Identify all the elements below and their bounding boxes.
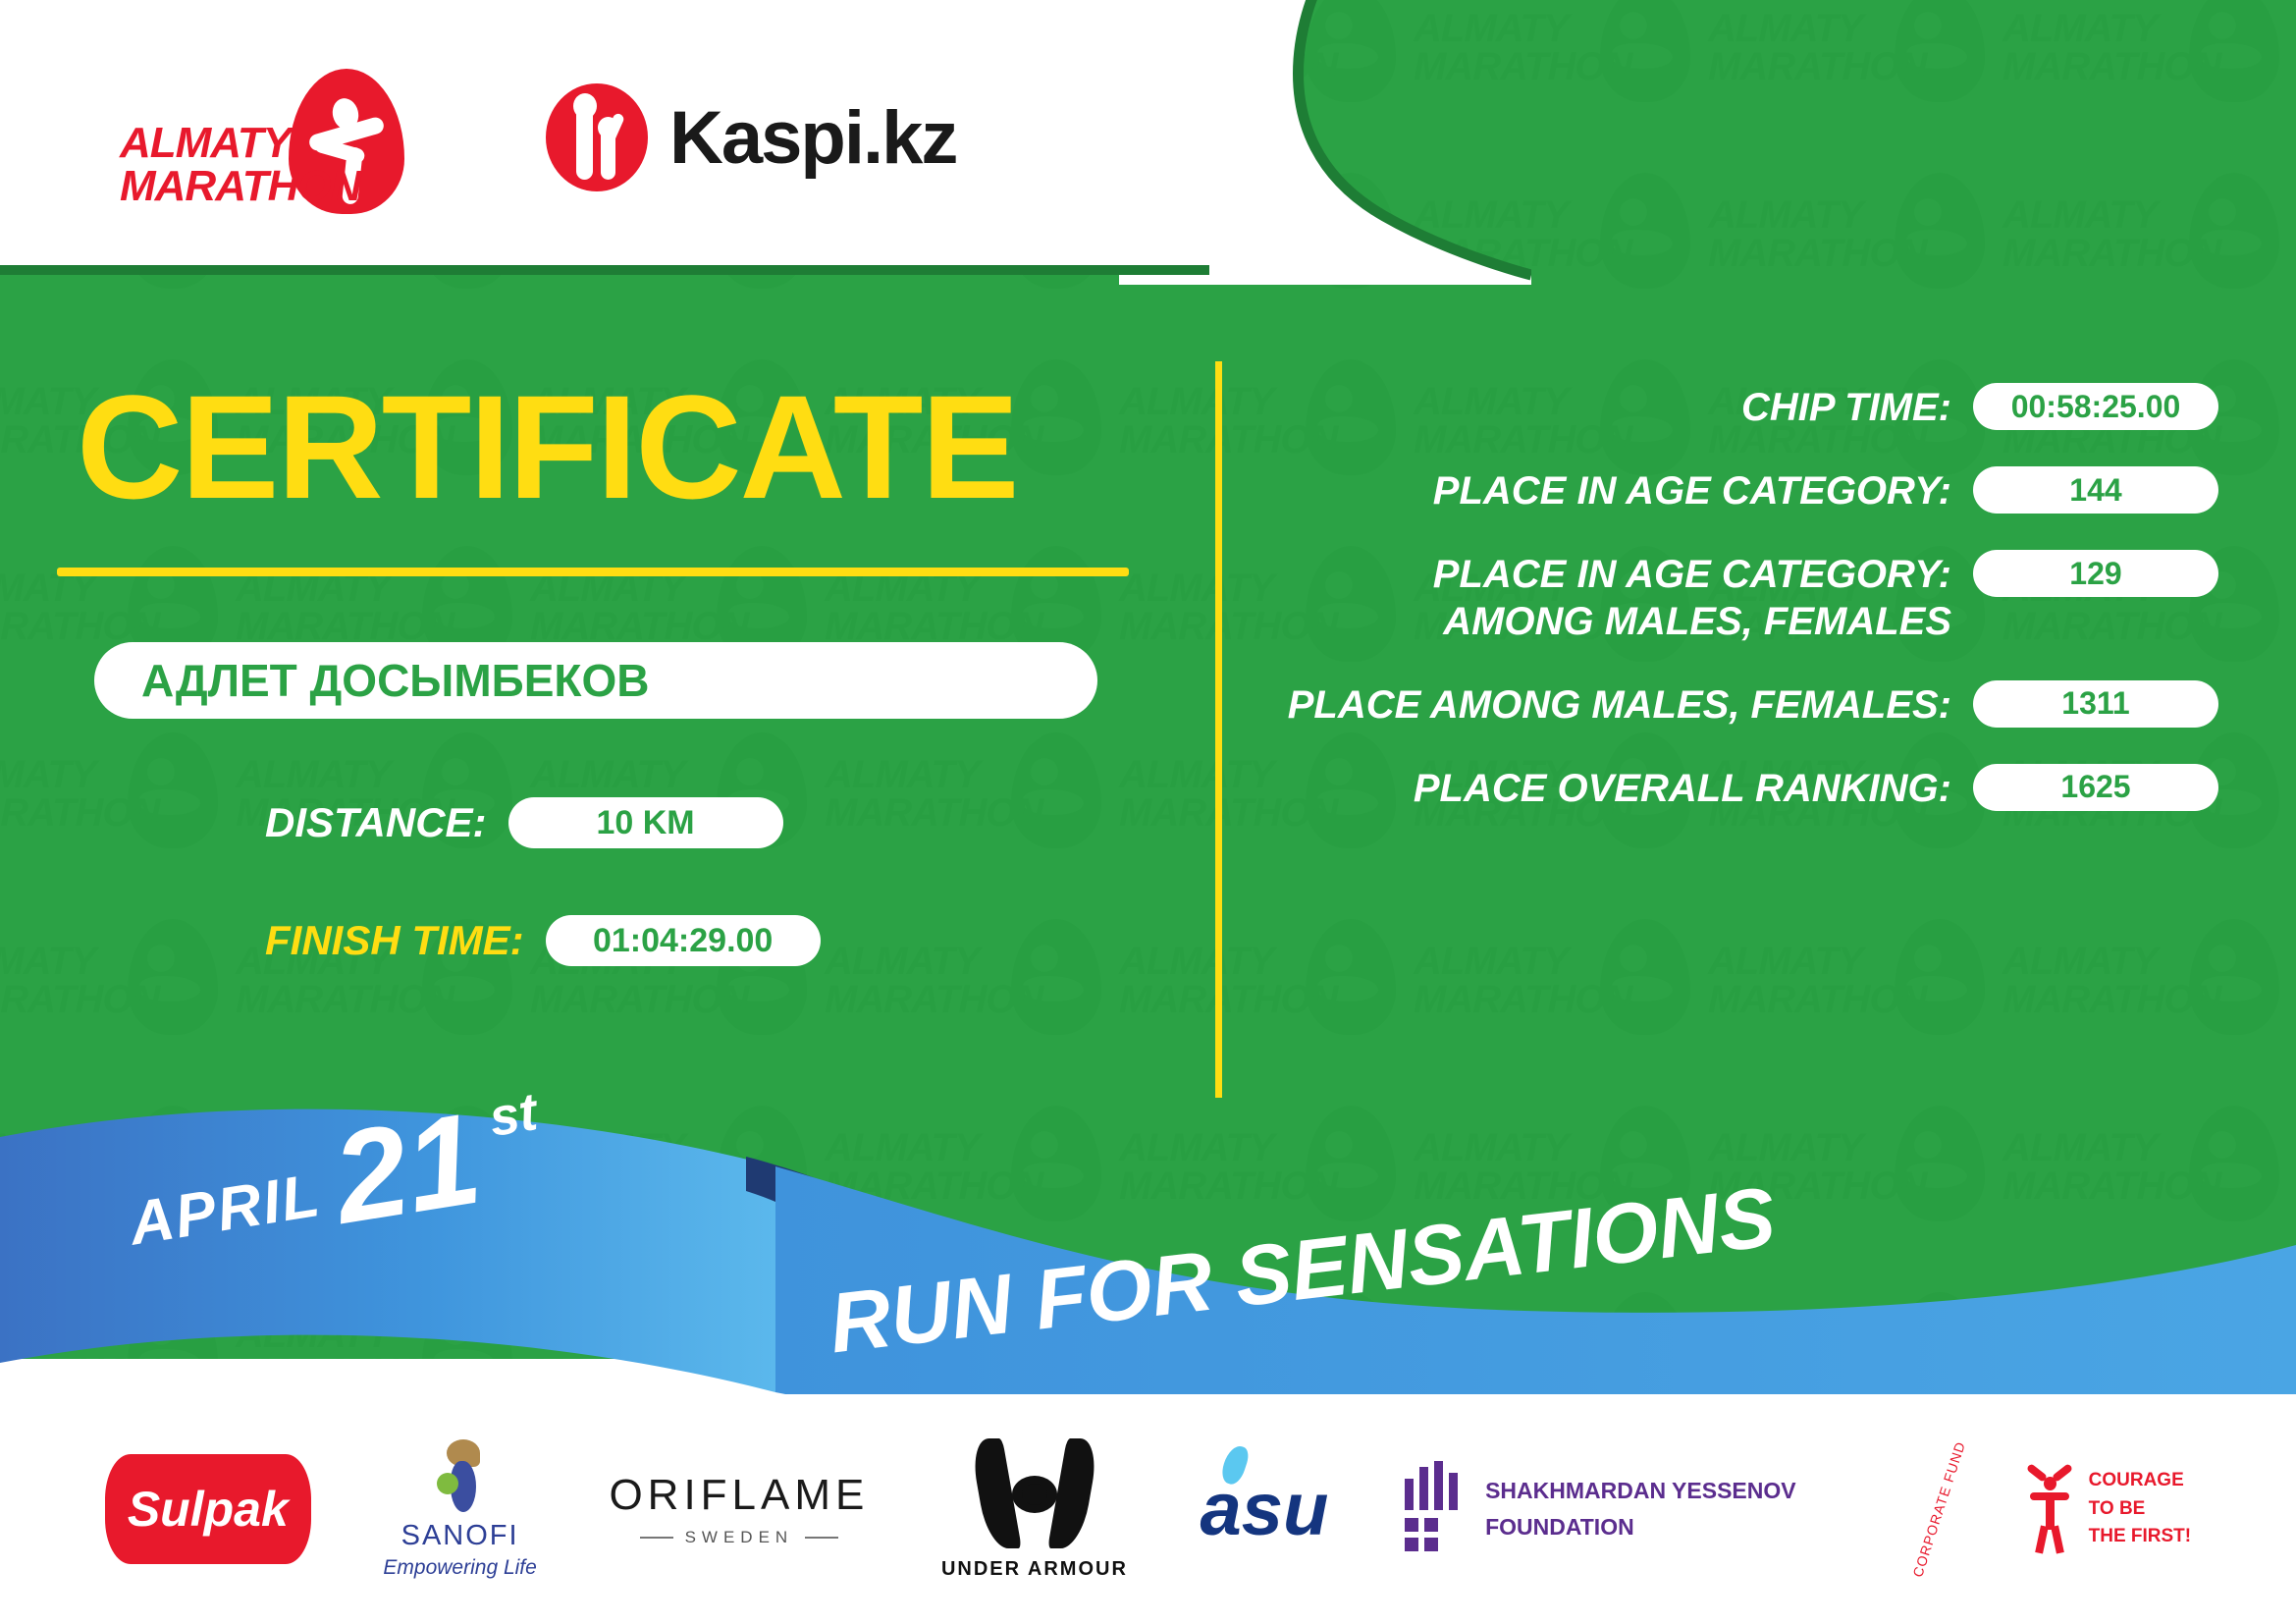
- sponsor-yessenov-foundation: SHAKHMARDAN YESSENOV FOUNDATION: [1401, 1461, 1796, 1557]
- watermark-text: ALMATYMARATHON: [2002, 196, 2209, 273]
- watermark-line2: MARATHON: [825, 794, 1031, 833]
- watermark-tile: ALMATYMARATHON: [1708, 913, 2002, 1100]
- distance-row: DISTANCE: 10 KM: [265, 797, 783, 848]
- almaty-marathon-logo: ALMATY MARATHON: [120, 69, 444, 206]
- under-armour-wordmark: UNDER ARMOUR: [941, 1558, 1128, 1581]
- sponsor-oriflame: ORIFLAME SWEDEN: [609, 1471, 869, 1547]
- watermark-text: ALMATYMARATHON: [1708, 196, 1914, 273]
- watermark-tile: ALMATYMARATHON: [1119, 913, 1414, 1100]
- watermark-line2: MARATHON: [825, 608, 1031, 646]
- watermark-tile: ALMATYMARATHON: [2002, 167, 2296, 353]
- title-underline: [57, 568, 1129, 576]
- participant-name-value: АДЛЕТ ДОСЫМБЕКОВ: [141, 654, 649, 707]
- sponsor-bar: Sulpak SANOFI Empowering Life ORIFLAME S…: [0, 1394, 2296, 1624]
- finish-time-value: 01:04:29.00: [593, 922, 773, 960]
- watermark-line1: ALMATY: [2002, 196, 2209, 235]
- watermark-line2: MARATHON: [2002, 48, 2209, 86]
- watermark-text: ALMATYMARATHON: [1708, 943, 1914, 1019]
- stat-label: PLACE IN AGE CATEGORY:: [1286, 466, 1973, 514]
- watermark-line2: MARATHON: [2002, 981, 2209, 1019]
- watermark-text: ALMATYMARATHON: [530, 569, 736, 646]
- sponsor-asu: asu: [1201, 1467, 1329, 1552]
- watermark-line2: MARATHON: [825, 981, 1031, 1019]
- distance-label: DISTANCE:: [265, 799, 487, 846]
- kaspi-wordmark: Kaspi.kz: [669, 95, 956, 181]
- watermark-tile: ALMATYMARATHON: [0, 913, 236, 1100]
- under-armour-mark-icon: [973, 1438, 1096, 1548]
- corporate-fund-line3: THE FIRST!: [2089, 1523, 2192, 1551]
- yessenov-line2: FOUNDATION: [1485, 1509, 1796, 1545]
- watermark-text: ALMATYMARATHON: [1119, 943, 1325, 1019]
- event-day: 21: [327, 1101, 488, 1238]
- sponsor-sulpak: Sulpak: [105, 1454, 311, 1564]
- watermark-text: ALMATYMARATHON: [825, 943, 1031, 1019]
- header-curve-shape: [1119, 0, 1531, 285]
- stat-value: 129: [2069, 556, 2121, 592]
- certificate-page: ALMATYMARATHONALMATYMARATHONALMATYMARATH…: [0, 0, 2296, 1624]
- stat-row: PLACE AMONG MALES, FEMALES:1311: [1286, 680, 2218, 729]
- watermark-line2: MARATHON: [1708, 48, 1914, 86]
- watermark-tile: ALMATYMARATHON: [1708, 167, 2002, 353]
- watermark-line1: ALMATY: [825, 756, 1031, 794]
- stat-row: CHIP TIME:00:58:25.00: [1286, 383, 2218, 431]
- almaty-line2: MARATHON: [120, 165, 316, 208]
- distance-value: 10 KM: [596, 804, 694, 842]
- watermark-line1: ALMATY: [236, 756, 442, 794]
- watermark-line2: MARATHON: [1119, 981, 1325, 1019]
- yessenov-wordmark: SHAKHMARDAN YESSENOV FOUNDATION: [1485, 1473, 1796, 1545]
- watermark-line2: MARATHON: [1414, 981, 1620, 1019]
- stat-label: PLACE OVERALL RANKING:: [1286, 764, 1973, 812]
- corporate-fund-line2: TO BE: [2089, 1495, 2192, 1524]
- watermark-line1: ALMATY: [1708, 196, 1914, 235]
- watermark-text: ALMATYMARATHON: [825, 756, 1031, 833]
- watermark-text: ALMATYMARATHON: [1414, 943, 1620, 1019]
- watermark-tile: ALMATYMARATHON: [825, 913, 1119, 1100]
- sponsor-under-armour: UNDER ARMOUR: [941, 1438, 1128, 1581]
- watermark-text: ALMATYMARATHON: [825, 569, 1031, 646]
- stat-value: 1625: [2060, 769, 2130, 805]
- stat-value: 144: [2069, 472, 2121, 509]
- finish-time-row: FINISH TIME: 01:04:29.00: [265, 915, 821, 966]
- participant-name-field: АДЛЕТ ДОСЫМБЕКОВ: [94, 642, 1097, 719]
- under-armour-logo: UNDER ARMOUR: [941, 1438, 1128, 1581]
- sponsor-corporate-fund: CORPORATE FUND COURAGE TO BE THE FIRST!: [1868, 1465, 2191, 1553]
- column-divider: [1215, 361, 1222, 1098]
- stat-value-pill: 1625: [1973, 764, 2218, 811]
- distance-value-pill: 10 KM: [508, 797, 783, 848]
- watermark-line1: ALMATY: [1708, 943, 1914, 981]
- kaspi-adult-body: [576, 97, 593, 180]
- results-stats-list: CHIP TIME:00:58:25.00PLACE IN AGE CATEGO…: [1286, 383, 2218, 847]
- watermark-text: ALMATYMARATHON: [236, 569, 442, 646]
- watermark-line2: MARATHON: [236, 981, 442, 1019]
- almaty-marathon-wordmark: ALMATY MARATHON: [120, 122, 316, 208]
- corporate-fund-slogan: COURAGE TO BE THE FIRST!: [2089, 1467, 2192, 1551]
- watermark-line2: MARATHON: [236, 608, 442, 646]
- yessenov-mark-icon: [1401, 1461, 1466, 1557]
- sanofi-wordmark: SANOFI: [401, 1520, 519, 1552]
- watermark-line2: MARATHON: [1708, 981, 1914, 1019]
- oriflame-wordmark: ORIFLAME: [609, 1471, 869, 1520]
- kaspi-figures-icon: [546, 83, 648, 191]
- stat-value-pill: 1311: [1973, 680, 2218, 728]
- stat-label: PLACE IN AGE CATEGORY: AMONG MALES, FEMA…: [1286, 550, 1973, 644]
- corporate-fund-figure-icon: [2024, 1465, 2075, 1553]
- watermark-line1: ALMATY: [1414, 943, 1620, 981]
- watermark-line2: MARATHON: [0, 794, 147, 833]
- finish-time-label: FINISH TIME:: [265, 917, 524, 964]
- corporate-fund-arc-text: CORPORATE FUND: [1909, 1439, 1968, 1579]
- watermark-text: ALMATYMARATHON: [0, 569, 147, 646]
- stat-value: 00:58:25.00: [2011, 389, 2181, 425]
- watermark-text: ALMATYMARATHON: [0, 756, 147, 833]
- watermark-line2: MARATHON: [2002, 235, 2209, 273]
- almaty-line1: ALMATY: [120, 122, 316, 165]
- stat-value: 1311: [2061, 685, 2129, 722]
- watermark-tile: ALMATYMARATHON: [2002, 913, 2296, 1100]
- stat-row: PLACE OVERALL RANKING:1625: [1286, 764, 2218, 812]
- watermark-line2: MARATHON: [530, 608, 736, 646]
- stat-label: PLACE AMONG MALES, FEMALES:: [1286, 680, 1973, 729]
- corporate-fund-logo: CORPORATE FUND COURAGE TO BE THE FIRST!: [1868, 1465, 2191, 1553]
- stat-value-pill: 144: [1973, 466, 2218, 514]
- watermark-tile: ALMATYMARATHON: [0, 727, 236, 913]
- asu-wordmark: asu: [1201, 1468, 1329, 1551]
- watermark-line1: ALMATY: [0, 943, 147, 981]
- oriflame-tagline: SWEDEN: [685, 1528, 794, 1547]
- watermark-text: ALMATYMARATHON: [2002, 10, 2209, 86]
- watermark-tile: ALMATYMARATHON: [1708, 0, 2002, 167]
- watermark-line1: ALMATY: [530, 756, 736, 794]
- watermark-line1: ALMATY: [1119, 943, 1325, 981]
- sanofi-logo: SANOFI Empowering Life: [383, 1439, 536, 1580]
- sponsor-sanofi: SANOFI Empowering Life: [383, 1439, 536, 1580]
- corporate-fund-line1: COURAGE: [2089, 1467, 2192, 1495]
- watermark-line2: MARATHON: [0, 981, 147, 1019]
- sanofi-tagline: Empowering Life: [383, 1556, 536, 1580]
- watermark-line2: MARATHON: [1708, 235, 1914, 273]
- watermark-line2: MARATHON: [530, 981, 736, 1019]
- watermark-text: ALMATYMARATHON: [2002, 943, 2209, 1019]
- watermark-line1: ALMATY: [825, 943, 1031, 981]
- watermark-text: ALMATYMARATHON: [0, 943, 147, 1019]
- stat-value-pill: 129: [1973, 550, 2218, 597]
- oriflame-tagline-row: SWEDEN: [640, 1528, 839, 1547]
- watermark-tile: ALMATYMARATHON: [2002, 0, 2296, 167]
- watermark-text: ALMATYMARATHON: [1708, 10, 1914, 86]
- header-accent-line: [0, 265, 1209, 275]
- watermark-line2: MARATHON: [0, 608, 147, 646]
- yessenov-line1: SHAKHMARDAN YESSENOV: [1485, 1473, 1796, 1509]
- watermark-line1: ALMATY: [0, 756, 147, 794]
- stat-label: CHIP TIME:: [1286, 383, 1973, 431]
- stat-row: PLACE IN AGE CATEGORY:144: [1286, 466, 2218, 514]
- watermark-line1: ALMATY: [2002, 10, 2209, 48]
- page-title: CERTIFICATE: [77, 373, 1018, 520]
- kaspi-logo: Kaspi.kz: [546, 79, 958, 196]
- sanofi-mark-icon: [421, 1439, 500, 1516]
- finish-time-value-pill: 01:04:29.00: [546, 915, 821, 966]
- watermark-tile: ALMATYMARATHON: [825, 727, 1119, 913]
- stat-row: PLACE IN AGE CATEGORY: AMONG MALES, FEMA…: [1286, 550, 2218, 644]
- oriflame-logo: ORIFLAME SWEDEN: [609, 1471, 869, 1547]
- stat-value-pill: 00:58:25.00: [1973, 383, 2218, 430]
- watermark-line1: ALMATY: [1708, 10, 1914, 48]
- watermark-line1: ALMATY: [2002, 943, 2209, 981]
- sulpak-logo: Sulpak: [105, 1454, 311, 1564]
- yessenov-logo: SHAKHMARDAN YESSENOV FOUNDATION: [1401, 1461, 1796, 1557]
- asu-logo: asu: [1201, 1467, 1329, 1552]
- watermark-tile: ALMATYMARATHON: [1414, 913, 1708, 1100]
- sulpak-wordmark: Sulpak: [128, 1481, 289, 1538]
